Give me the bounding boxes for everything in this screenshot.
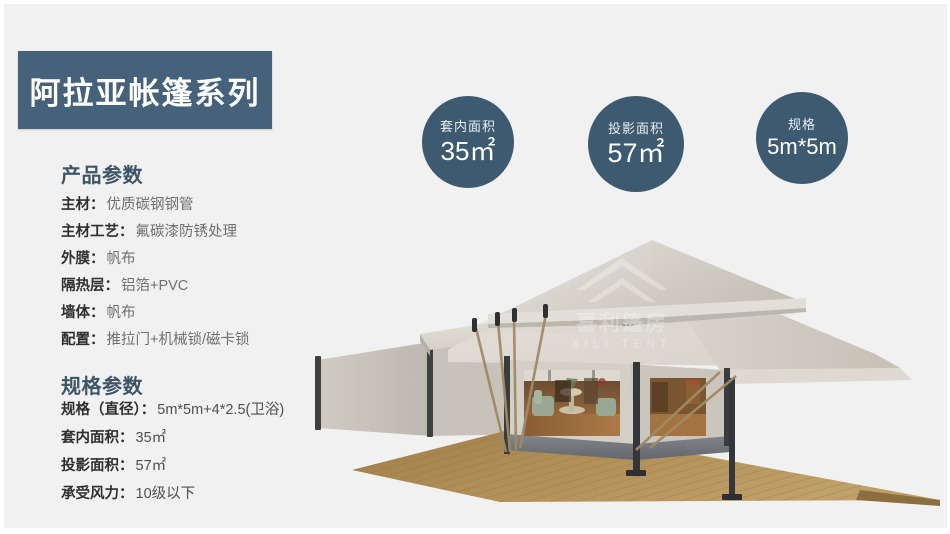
parameter-value: 氟碳漆防锈处理 [134, 224, 238, 240]
spec-value: 10级以下 [134, 486, 196, 502]
stat-badge-interior-area: 套内面积 35㎡ [422, 96, 514, 188]
section-heading-product: 产品参数 [61, 159, 143, 188]
spec-value: 57㎡ [134, 458, 167, 474]
parameter-label: 隔热层： [61, 278, 119, 294]
parameter-label: 主材工艺： [61, 224, 134, 240]
parameter-value: 帆布 [105, 305, 136, 321]
parameter-row: 主材：优质碳钢钢管 [61, 192, 391, 219]
stat-badge-value: 5m*5m [767, 136, 837, 158]
stat-badge-value: 57㎡ [607, 140, 664, 167]
stat-badge-value: 35㎡ [441, 138, 496, 164]
parameter-label: 外膜： [61, 251, 105, 267]
page-title-banner: 阿拉亚帐篷系列 [18, 51, 272, 129]
spec-value: 5m*5m+4*2.5(卫浴) [155, 402, 284, 418]
parameter-label: 主材： [61, 197, 105, 213]
page-title: 阿拉亚帐篷系列 [30, 68, 261, 113]
spec-label: 投影面积： [61, 458, 134, 474]
spec-value: 35㎡ [134, 430, 167, 446]
section-heading-spec: 规格参数 [61, 370, 143, 399]
product-spec-page: 阿拉亚帐篷系列 产品参数 主材：优质碳钢钢管 主材工艺：氟碳漆防锈处理 外膜：帆… [0, 0, 950, 534]
stat-badge-dimensions: 规格 5m*5m [756, 92, 848, 184]
parameter-value: 帆布 [105, 251, 136, 267]
parameter-value: 优质碳钢钢管 [105, 197, 194, 213]
stat-badge-projected-area: 投影面积 57㎡ [588, 96, 684, 192]
tent-render-image: 喜利篷房 XILI TENT [300, 238, 950, 506]
stat-badge-label: 投影面积 [608, 122, 664, 135]
parameter-value: 铝箔+PVC [119, 278, 188, 294]
spec-label: 承受风力： [61, 486, 134, 502]
parameter-value: 推拉门+机械锁/磁卡锁 [105, 332, 250, 348]
svg-text:喜利篷房: 喜利篷房 [576, 311, 668, 335]
stat-badge-label: 套内面积 [440, 120, 496, 133]
spec-label: 规格（直径）： [61, 402, 155, 418]
svg-text:XILI TENT: XILI TENT [572, 337, 673, 351]
parameter-label: 配置： [61, 332, 105, 348]
stat-badge-label: 规格 [788, 118, 816, 131]
parameter-label: 墙体： [61, 305, 105, 321]
spec-label: 套内面积： [61, 430, 134, 446]
